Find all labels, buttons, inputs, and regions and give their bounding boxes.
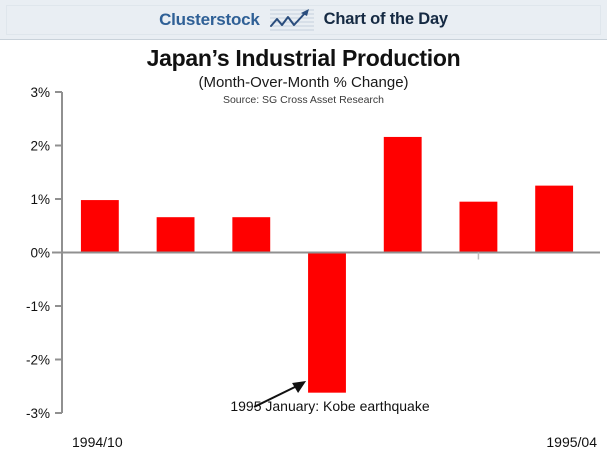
bar-series: [81, 137, 573, 393]
bar: [157, 217, 195, 252]
annotation-label: 1995 January: Kobe earthquake: [230, 398, 429, 414]
y-axis-tick-label: 3%: [30, 85, 50, 100]
y-axis-tick-label: -1%: [26, 299, 50, 314]
bar: [308, 253, 346, 393]
y-axis-tick-label: -3%: [26, 406, 50, 421]
y-axis-tick-label: 1%: [30, 192, 50, 207]
x-axis-end-label: 1995/04: [546, 434, 597, 450]
y-axis-tick-label: 2%: [30, 139, 50, 154]
y-axis-tick-label: 0%: [30, 246, 50, 261]
x-axis-labels: 1994/101995/04: [72, 434, 597, 450]
x-axis-start-label: 1994/10: [72, 434, 123, 450]
bar: [232, 217, 270, 252]
y-axis-tick-label: -2%: [26, 353, 50, 368]
bar: [81, 200, 119, 252]
bar: [384, 137, 422, 253]
bar: [535, 186, 573, 253]
bar: [460, 202, 498, 253]
bar-chart: 3%2%1%0%-1%-2%-3% 1995 January: Kobe ear…: [0, 0, 607, 456]
